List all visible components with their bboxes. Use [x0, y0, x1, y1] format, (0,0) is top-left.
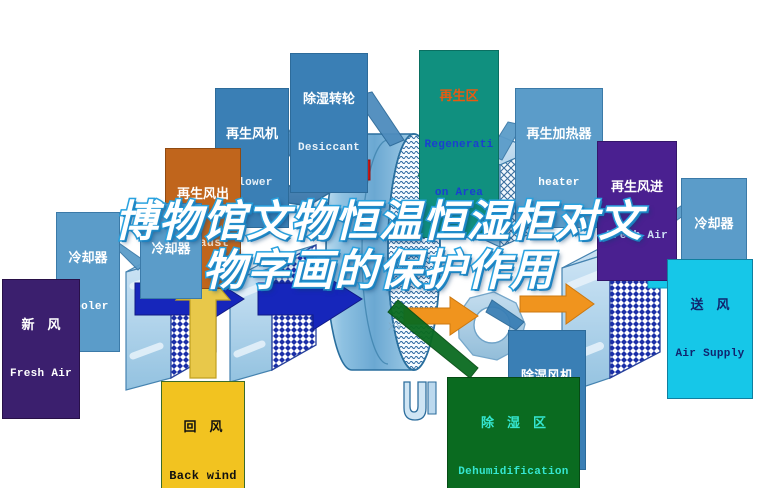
label-regeneration-area: 再生区 Regenerati on Area [419, 50, 499, 238]
label-air-supply: 送 风 Air Supply [667, 259, 753, 399]
label-back-wind: 回 风 Back wind [161, 381, 245, 488]
label-desiccant-rotor-en: Desiccant [295, 142, 363, 154]
label-cooler-left-2: 冷却器 [140, 203, 202, 299]
label-fresh-air-cn: 新 风 [7, 318, 75, 333]
schematic-diagram: XY [0, 0, 757, 488]
label-regeneration-heater-cn: 再生加热器 [520, 127, 598, 142]
label-desiccant-rotor-cn: 除湿转轮 [295, 92, 363, 107]
label-regeneration-fresh-air-cn: 再生风进 [602, 180, 672, 195]
label-exhaust-cn: 再生风出 [170, 187, 236, 202]
label-regeneration-heater-en: heater [520, 177, 598, 189]
label-air-supply-en: Air Supply [672, 348, 748, 360]
label-regeneration-fresh-air: 再生风进 Fresh Air [597, 141, 677, 281]
label-regeneration-heater: 再生加热器 heater [515, 88, 603, 228]
condensate-drain-graphic [404, 382, 436, 420]
label-back-wind-en: Back wind [166, 470, 240, 483]
label-back-wind-cn: 回 风 [166, 420, 240, 435]
label-fresh-air: 新 风 Fresh Air [2, 279, 80, 419]
label-fresh-air-en: Fresh Air [7, 368, 75, 380]
label-regeneration-area-en2: on Area [424, 187, 494, 199]
label-cooler-right-cn: 冷却器 [686, 217, 742, 232]
label-regeneration-fresh-air-en: Fresh Air [602, 230, 672, 242]
label-regeneration-area-en1: Regenerati [424, 139, 494, 151]
label-cooler-left-2-cn: 冷却器 [145, 242, 197, 257]
label-dehumidification-district-en1: Dehumidification [452, 466, 575, 478]
label-cooler-left-1-cn: 冷却器 [61, 251, 115, 266]
label-air-supply-cn: 送 风 [672, 298, 748, 313]
label-regeneration-blower-cn: 再生风机 [220, 127, 284, 142]
label-desiccant-rotor: 除湿转轮 Desiccant [290, 53, 368, 193]
label-dehumidification-district-cn: 除 湿 区 [452, 416, 575, 431]
label-regeneration-area-cn: 再生区 [424, 89, 494, 104]
label-dehumidification-district: 除 湿 区 Dehumidification District [447, 377, 580, 488]
